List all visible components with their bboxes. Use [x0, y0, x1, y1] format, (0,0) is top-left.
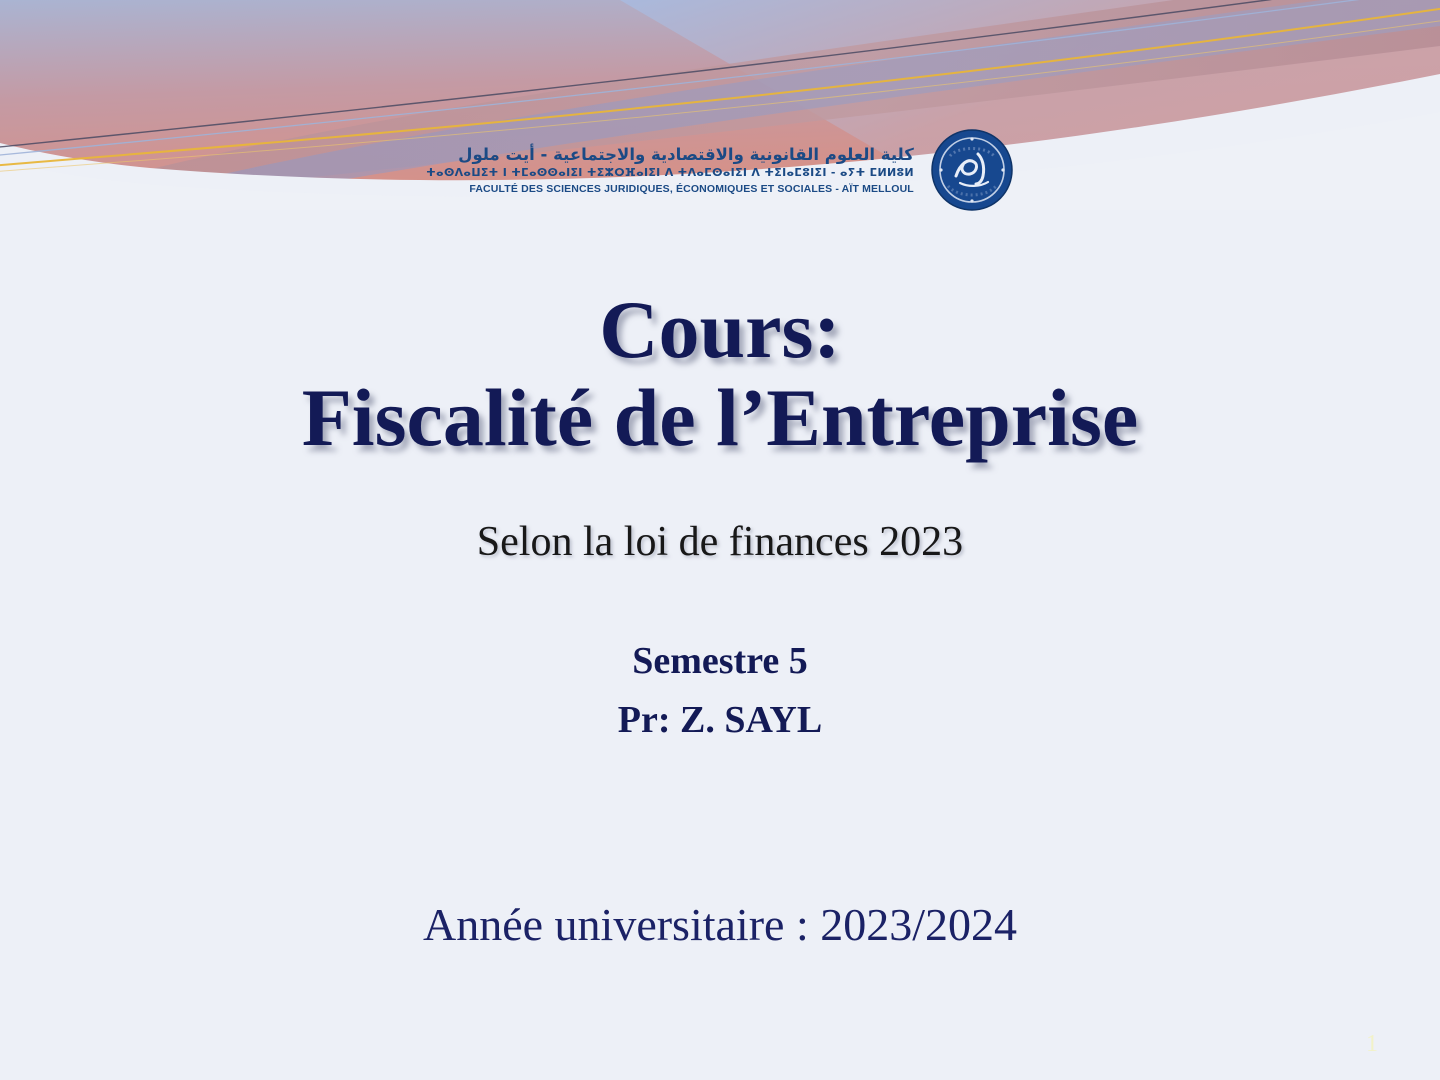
slide-subtitle: Selon la loi de finances 2023	[0, 518, 1440, 566]
title-line-1: Cours:	[0, 288, 1440, 372]
institution-names: كلية العلوم القانونية والاقتصادية والاجت…	[426, 145, 914, 195]
institution-name-arabic: كلية العلوم القانونية والاقتصادية والاجت…	[426, 145, 914, 164]
institution-name-tifinagh: ⵜⴰⵙⴷⴰⵡⵉⵜ ⵏ ⵜⵎⴰⵙⵙⴰⵏⵉⵏ ⵜⵉⵣⵔⴼⴰⵏⵉⵏ ⴷ ⵜⴷⴰⵎⵙⴰⵏ…	[426, 167, 914, 180]
institution-name-french: FACULTÉ DES SCIENCES JURIDIQUES, ÉCONOMI…	[426, 183, 914, 195]
title-line-2: Fiscalité de l’Entreprise	[0, 376, 1440, 460]
slide-title: Cours: Fiscalité de l’Entreprise	[0, 288, 1440, 459]
university-seal-icon	[930, 128, 1014, 212]
academic-year: Année universitaire : 2023/2024	[0, 898, 1440, 951]
title-slide: كلية العلوم القانونية والاقتصادية والاجت…	[0, 0, 1440, 1080]
page-number: 1	[1366, 1031, 1378, 1058]
course-meta: Semestre 5 Pr: Z. SAYL	[0, 632, 1440, 750]
university-identity: كلية العلوم القانونية والاقتصادية والاجت…	[0, 128, 1440, 212]
professor-label: Pr: Z. SAYL	[0, 691, 1440, 750]
semester-label: Semestre 5	[0, 632, 1440, 691]
